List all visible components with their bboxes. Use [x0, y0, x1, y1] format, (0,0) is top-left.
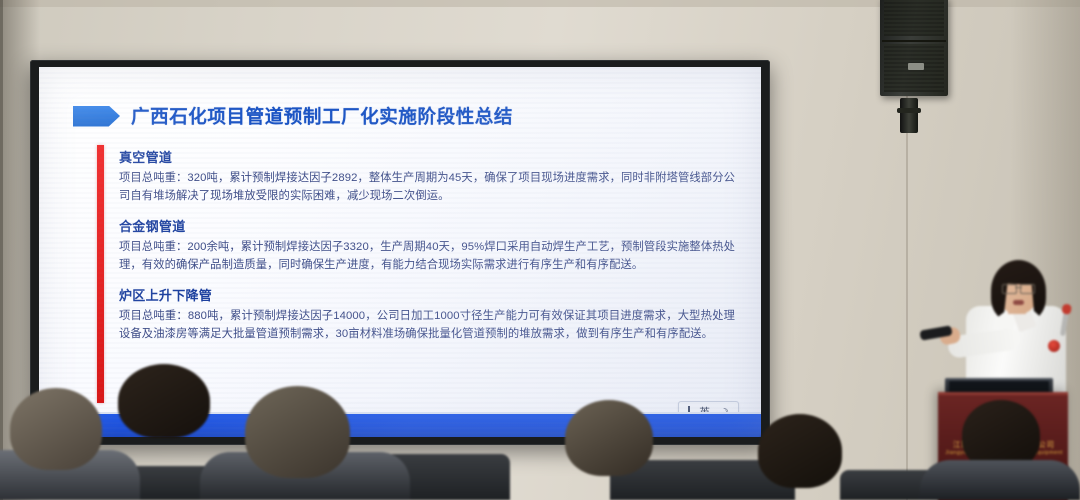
section-heading: 合金钢管道: [119, 216, 735, 235]
wall-speaker-icon: [880, 0, 948, 96]
arrow-tag-icon: [73, 106, 120, 127]
presenter: [960, 262, 1070, 392]
red-accent-bar: [97, 145, 104, 403]
section-block: 炉区上升下降管 项目总吨重：880吨，累计预制焊接达因子14000，公司日加工1…: [119, 285, 735, 343]
audience-head: [758, 414, 842, 488]
audience-head: [10, 388, 102, 470]
section-heading: 炉区上升下降管: [119, 285, 735, 304]
speaker-mount-bracket: [900, 98, 918, 133]
audience-shoulders: [920, 460, 1080, 500]
speaker-grill-top: [884, 0, 944, 36]
speaker-brand-logo: [908, 63, 924, 70]
screenshot-root: 广西石化项目管道预制工厂化实施阶段性总结 真空管道 项目总吨重：320吨，累计预…: [0, 0, 1080, 500]
audience-head: [245, 386, 350, 478]
page-title: 广西石化项目管道预制工厂化实施阶段性总结: [131, 103, 513, 129]
presenter-mouth: [1013, 300, 1024, 305]
audience-head: [565, 400, 653, 476]
section-body: 项目总吨重：880吨，累计预制焊接达因子14000，公司日加工1000寸径生产能…: [119, 308, 735, 343]
section-heading: 真空管道: [119, 147, 735, 166]
speaker-divider: [882, 40, 946, 42]
slide-title-row: 广西石化项目管道预制工厂化实施阶段性总结: [73, 103, 513, 129]
section-list: 真空管道 项目总吨重：320吨，累计预制焊接达因子2892，整体生产周期为45天…: [119, 145, 735, 403]
audience: [0, 390, 1080, 500]
section-block: 合金钢管道 项目总吨重：200余吨，累计预制焊接达因子3320，生产周期40天，…: [119, 216, 735, 274]
slide-content: 真空管道 项目总吨重：320吨，累计预制焊接达因子2892，整体生产周期为45天…: [97, 145, 735, 403]
glasses-icon: [1002, 284, 1035, 292]
audience-head: [118, 364, 210, 438]
section-body: 项目总吨重：320吨，累计预制焊接达因子2892，整体生产周期为45天，确保了项…: [119, 170, 735, 205]
lapel-badge-icon: [1048, 340, 1060, 352]
section-body: 项目总吨重：200余吨，累计预制焊接达因子3320，生产周期40天，95%焊口采…: [119, 239, 735, 274]
section-block: 真空管道 项目总吨重：320吨，累计预制焊接达因子2892，整体生产周期为45天…: [119, 147, 735, 205]
